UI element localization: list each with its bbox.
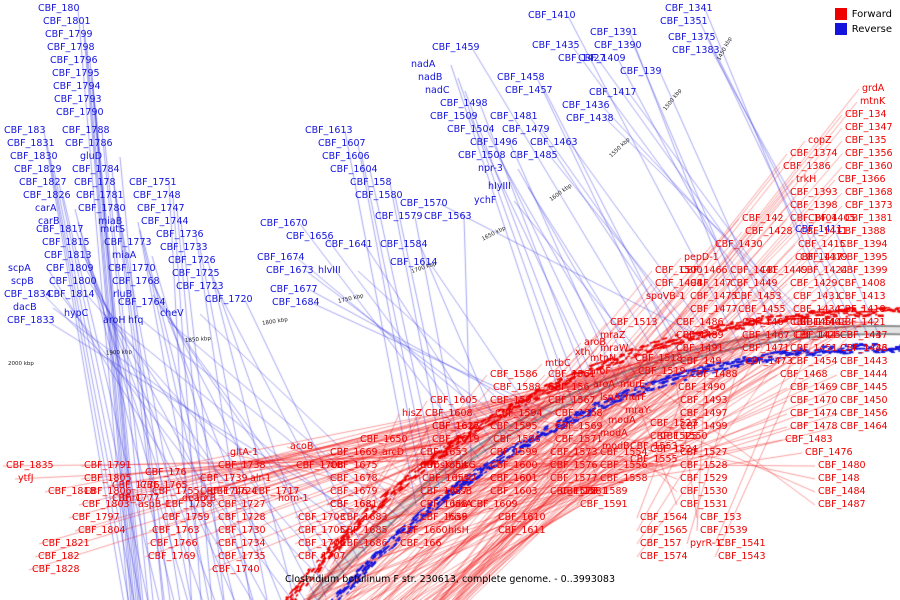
- gene-label-reverse[interactable]: CBF_1607: [318, 139, 366, 149]
- legend-item-reverse: Reverse: [835, 23, 892, 35]
- gene-label-reverse[interactable]: nadB: [418, 73, 442, 83]
- gene-label-forward[interactable]: CBF_134: [845, 110, 887, 120]
- gene-label-forward[interactable]: CBF_1818: [48, 487, 96, 497]
- gene-label-reverse[interactable]: CBF_1788: [62, 126, 110, 136]
- gene-label-reverse[interactable]: CBF_1796: [50, 56, 98, 66]
- gene-label-forward[interactable]: CBF_159: [490, 396, 532, 406]
- gene-label-forward[interactable]: CBF_1373: [845, 201, 893, 211]
- gene-label-forward[interactable]: CBF_1418: [838, 305, 886, 315]
- gene-label-forward[interactable]: CBF_1707: [298, 552, 346, 562]
- gene-label-forward[interactable]: CBF_1803: [82, 500, 130, 510]
- gene-label-reverse[interactable]: CBF_1833: [7, 316, 55, 326]
- gene-label-reverse[interactable]: scpB: [11, 277, 34, 287]
- gene-label-forward[interactable]: CBF_1467: [742, 331, 790, 341]
- gene-label-reverse[interactable]: hfq: [128, 316, 143, 326]
- gene-label-reverse[interactable]: scpA: [8, 264, 31, 274]
- gene-label-forward[interactable]: CBF_1428: [745, 227, 793, 237]
- gene-label-reverse[interactable]: CBF_1736: [156, 230, 204, 240]
- gene-label-reverse[interactable]: CBF_1496: [470, 138, 518, 148]
- gene-label-forward[interactable]: hisH: [448, 526, 469, 536]
- gene-label-reverse[interactable]: CBF_1604: [330, 165, 378, 175]
- gene-label-reverse[interactable]: miaA: [112, 251, 136, 261]
- gene-label-forward[interactable]: pyrR-1: [690, 539, 721, 549]
- gene-label-reverse[interactable]: CBF_1383: [672, 46, 720, 56]
- gene-label-forward[interactable]: CBF_1434: [793, 305, 841, 315]
- gene-label-forward[interactable]: CBF_1405: [808, 214, 856, 224]
- gene-label-forward[interactable]: CBF_147: [690, 279, 732, 289]
- gene-label-reverse[interactable]: CBF_1827: [19, 178, 67, 188]
- gene-label-forward[interactable]: CBF_1470: [790, 396, 838, 406]
- gene-label-forward[interactable]: CBF_1524: [650, 445, 698, 455]
- legend-label-forward: Forward: [852, 9, 892, 20]
- gene-label-forward[interactable]: CBF_1429: [790, 279, 838, 289]
- gene-label-reverse[interactable]: CBF_1438: [566, 114, 614, 124]
- gene-label-forward[interactable]: pepD-1: [684, 253, 719, 263]
- gene-label-forward[interactable]: CBF_1650: [360, 435, 408, 445]
- gene-label-forward[interactable]: CBF_1491: [676, 344, 724, 354]
- gene-label-forward[interactable]: CBF_1360: [845, 162, 893, 172]
- gene-label-forward[interactable]: grdA: [862, 84, 884, 94]
- genome-caption: Clostridium botulinum F str. 230613, com…: [0, 574, 900, 585]
- gene-label-forward[interactable]: CBF_1374: [790, 149, 838, 159]
- gene-label-forward[interactable]: CBF_1453: [734, 292, 782, 302]
- gene-label-forward[interactable]: CBF_1763: [152, 526, 200, 536]
- gene-label-reverse[interactable]: CBF_1798: [47, 43, 95, 53]
- gene-label-forward[interactable]: CBF_1356: [845, 149, 893, 159]
- gene-label-forward[interactable]: CBF_1484: [818, 487, 866, 497]
- gene-label-forward[interactable]: CBF_1550: [660, 432, 708, 442]
- gene-label-forward[interactable]: CBF_1611: [498, 526, 546, 536]
- gene-label-forward[interactable]: CBF_1486: [676, 318, 724, 328]
- gene-label-forward[interactable]: CBF_1675: [330, 461, 378, 471]
- gene-label-forward[interactable]: hisF: [448, 513, 467, 523]
- gene-label-forward[interactable]: CBF_1541: [718, 539, 766, 549]
- gene-label-forward[interactable]: mtbC: [545, 359, 571, 369]
- gene-label-forward[interactable]: CBF_1727: [218, 500, 266, 510]
- gene-label-forward[interactable]: CBF_1411: [800, 227, 848, 237]
- gene-label-reverse[interactable]: CBF_1817: [36, 225, 84, 235]
- gene-label-reverse[interactable]: CBF_1764: [118, 298, 166, 308]
- gene-label-reverse[interactable]: CBF_1748: [133, 191, 181, 201]
- gene-label-reverse[interactable]: gluD: [80, 152, 102, 162]
- gene-label-forward[interactable]: CBF_1415: [798, 240, 846, 250]
- strand-legend: Forward Reverse: [835, 8, 892, 38]
- gene-label-reverse[interactable]: CBF_1773: [104, 238, 152, 248]
- gene-label-reverse[interactable]: CBF_158: [350, 178, 392, 188]
- gene-label-reverse[interactable]: aroH: [103, 316, 125, 326]
- gene-label-forward[interactable]: CBF_1519: [638, 367, 686, 377]
- gene-label-reverse[interactable]: CBF_1684: [272, 298, 320, 308]
- gene-label-forward[interactable]: CBF_1493: [680, 396, 728, 406]
- gene-label-forward[interactable]: CBF_1395: [840, 253, 888, 263]
- gene-label-forward[interactable]: hisB: [452, 487, 472, 497]
- gene-label-forward[interactable]: CBF_1444: [840, 370, 888, 380]
- gene-label-forward[interactable]: CBF_1489: [676, 331, 724, 341]
- gene-label-forward[interactable]: CBF_1393: [790, 188, 838, 198]
- gene-label-forward[interactable]: CBF_1591: [580, 500, 628, 510]
- gene-label-reverse[interactable]: CBF_1458: [497, 73, 545, 83]
- gene-label-forward[interactable]: CBF_166: [400, 539, 442, 549]
- gene-label-forward[interactable]: CBF_1703: [298, 513, 346, 523]
- gene-label-reverse[interactable]: CBF_1563: [424, 212, 472, 222]
- gene-label-reverse[interactable]: CBF_1579: [375, 212, 423, 222]
- gene-label-reverse[interactable]: CBF_1809: [46, 264, 94, 274]
- gene-label-reverse[interactable]: CBF_1673: [266, 266, 314, 276]
- gene-label-reverse[interactable]: CBF_1747: [137, 204, 185, 214]
- legend-label-reverse: Reverse: [852, 24, 892, 35]
- gene-label-forward[interactable]: CBF_1678: [330, 474, 378, 484]
- gene-label-forward[interactable]: CBF_1483: [785, 435, 833, 445]
- gene-label-forward[interactable]: CBF_1683: [340, 513, 388, 523]
- gene-label-forward[interactable]: CBF_160: [490, 474, 532, 484]
- gene-label-reverse[interactable]: ychF: [474, 196, 496, 206]
- gene-label-reverse[interactable]: CBF_1436: [562, 101, 610, 111]
- gene-label-forward[interactable]: CBF_1518: [635, 354, 683, 364]
- gene-label-forward[interactable]: lspA: [600, 393, 620, 403]
- gene-label-reverse[interactable]: nadC: [425, 86, 450, 96]
- gene-label-forward[interactable]: modA: [600, 429, 628, 439]
- genome-map-viewer: CBF_180CBF_1801CBF_1799CBF_1798CBF_1796C…: [0, 0, 900, 600]
- gene-label-forward[interactable]: CBF_1430: [715, 240, 763, 250]
- gene-label-reverse[interactable]: CBF_139: [620, 67, 662, 77]
- gene-label-forward[interactable]: CBF_1456: [840, 409, 888, 419]
- gene-label-forward[interactable]: CBF_145: [790, 318, 832, 328]
- gene-label-reverse[interactable]: CBF_1733: [160, 243, 208, 253]
- gene-label-reverse[interactable]: cheV: [160, 309, 184, 319]
- gene-label-forward[interactable]: CBF_1531: [680, 500, 728, 510]
- gene-label-forward[interactable]: CBF_1568: [555, 409, 603, 419]
- gene-label-reverse[interactable]: CBF_1768: [112, 277, 160, 287]
- gene-label-reverse[interactable]: dacB: [13, 303, 37, 313]
- gene-label-forward[interactable]: CBF_1475: [690, 292, 738, 302]
- gene-label-reverse[interactable]: CBF_1793: [54, 95, 102, 105]
- gene-label-forward[interactable]: CBF_1431: [793, 292, 841, 302]
- gene-label-reverse[interactable]: hIyIII: [488, 182, 511, 192]
- gene-label-forward[interactable]: copZ: [808, 136, 832, 146]
- gene-label-reverse[interactable]: CBF_1790: [56, 108, 104, 118]
- gene-label-reverse[interactable]: CBF_1485: [510, 151, 558, 161]
- gene-label-reverse[interactable]: CBF_1784: [72, 165, 120, 175]
- gene-label-forward[interactable]: CBF_1571: [555, 435, 603, 445]
- gene-label-reverse[interactable]: CBF_1674: [257, 253, 305, 263]
- gene-label-reverse[interactable]: CBF_1720: [205, 295, 253, 305]
- gene-label-forward[interactable]: hisD: [455, 474, 476, 484]
- gene-label-forward[interactable]: xth: [575, 348, 590, 358]
- gene-label-reverse[interactable]: CBF_1435: [532, 41, 580, 51]
- gene-label-forward[interactable]: CBF_1528: [680, 461, 728, 471]
- gene-label-forward[interactable]: CBF_1835: [6, 461, 54, 471]
- gene-label-reverse[interactable]: hypC: [64, 309, 88, 319]
- gene-label-reverse[interactable]: CBF_1479: [502, 125, 550, 135]
- gene-label-forward[interactable]: CBF_1739: [200, 474, 248, 484]
- gene-label-reverse[interactable]: CBF_183: [4, 126, 46, 136]
- gene-label-forward[interactable]: CBF_146: [742, 318, 784, 328]
- gene-label-reverse[interactable]: CBF_1508: [458, 151, 506, 161]
- gene-label-forward[interactable]: trkH: [796, 175, 816, 185]
- gene-label-forward[interactable]: CBF_1595: [490, 422, 538, 432]
- gene-label-forward[interactable]: CBF_1738: [218, 461, 266, 471]
- gene-label-forward[interactable]: CBF_1468: [780, 370, 828, 380]
- gene-label-reverse[interactable]: CBF_1580: [355, 191, 403, 201]
- gene-label-forward[interactable]: CBF_1724: [210, 487, 258, 497]
- gene-label-forward[interactable]: CBF_1476: [805, 448, 853, 458]
- gene-label-reverse[interactable]: CBF_1509: [430, 112, 478, 122]
- gene-label-reverse[interactable]: CBF_1481: [490, 112, 538, 122]
- gene-label-forward[interactable]: CBF_1758: [165, 500, 213, 510]
- gene-label-forward[interactable]: CBF_1686: [340, 539, 388, 549]
- gene-label-reverse[interactable]: CBF_1351: [660, 17, 708, 27]
- gene-label-reverse[interactable]: CBF_1606: [322, 152, 370, 162]
- gene-label-forward[interactable]: mtnN: [590, 354, 616, 364]
- gene-label-forward[interactable]: CBF_1558: [600, 474, 648, 484]
- gene-label-forward[interactable]: CBF_1451: [790, 344, 838, 354]
- gene-label-reverse[interactable]: CBF_1498: [440, 99, 488, 109]
- gene-label-forward[interactable]: CBF_1464: [840, 422, 888, 432]
- gene-label-forward[interactable]: CBF_1734: [218, 539, 266, 549]
- gene-label-forward[interactable]: CBF_1599: [490, 448, 538, 458]
- gene-label-reverse[interactable]: CBF_1801: [43, 17, 91, 27]
- gene-label-reverse[interactable]: CBF_1794: [53, 82, 101, 92]
- gene-label-forward[interactable]: aroA: [593, 380, 615, 390]
- gene-label-forward[interactable]: CBF_1469: [790, 383, 838, 393]
- gene-label-forward[interactable]: CBF_1653: [420, 448, 468, 458]
- gene-label-reverse[interactable]: CBF_1641: [325, 240, 373, 250]
- gene-label-forward[interactable]: CBF_1594: [495, 409, 543, 419]
- gene-label-forward[interactable]: CBF_1565: [640, 526, 688, 536]
- gene-label-forward[interactable]: CBF_1450: [840, 396, 888, 406]
- gene-label-reverse[interactable]: CBF_1459: [432, 43, 480, 53]
- gene-label-reverse[interactable]: CBF_1781: [76, 191, 124, 201]
- gene-label-reverse[interactable]: CBF_1391: [590, 28, 638, 38]
- gene-label-forward[interactable]: murE: [620, 380, 645, 390]
- gene-label-reverse[interactable]: CBF_1831: [7, 139, 55, 149]
- gene-label-forward[interactable]: alr-1: [250, 474, 271, 484]
- gene-label-forward[interactable]: CBF_1480: [818, 461, 866, 471]
- gene-label-forward[interactable]: CBF_1477: [690, 305, 738, 315]
- gene-label-forward[interactable]: CBF_1679: [330, 487, 378, 497]
- gene-label-forward[interactable]: CBF_1625: [432, 422, 480, 432]
- gene-label-reverse[interactable]: CBF_1834: [4, 290, 52, 300]
- gene-label-forward[interactable]: CBF_1730: [218, 526, 266, 536]
- gene-label-forward[interactable]: CBF_1596: [493, 435, 541, 445]
- gene-label-reverse[interactable]: CBF_1613: [305, 126, 353, 136]
- gene-label-forward[interactable]: CBF_1769: [148, 552, 196, 562]
- gene-label-reverse[interactable]: CBF_1375: [668, 33, 716, 43]
- gene-label-forward[interactable]: CBF_1735: [218, 552, 266, 562]
- gene-label-reverse[interactable]: nadA: [411, 60, 435, 70]
- gene-label-forward[interactable]: CBF_1408: [838, 279, 886, 289]
- gene-label-forward[interactable]: CBF_1399: [840, 266, 888, 276]
- gene-label-forward[interactable]: CBF_1766: [150, 539, 198, 549]
- gene-label-reverse[interactable]: CBF_1670: [260, 219, 308, 229]
- gene-label-reverse[interactable]: carA: [35, 204, 56, 214]
- gene-label-reverse[interactable]: CBF_1780: [78, 204, 126, 214]
- legend-item-forward: Forward: [835, 8, 892, 20]
- gene-label-forward[interactable]: arcD: [382, 448, 404, 458]
- gene-label-forward[interactable]: CBF_1619: [432, 435, 480, 445]
- gene-label-reverse[interactable]: CBF_1463: [530, 138, 578, 148]
- gene-label-reverse[interactable]: CBF_1427: [558, 54, 606, 64]
- gene-label-reverse[interactable]: CBF_1786: [65, 139, 113, 149]
- gene-label-reverse[interactable]: CBF_1830: [10, 152, 58, 162]
- gene-label-forward[interactable]: mtnK: [860, 97, 885, 107]
- gene-label-forward[interactable]: murF: [622, 393, 647, 403]
- gene-label-reverse[interactable]: CBF_1814: [47, 290, 95, 300]
- gene-label-forward[interactable]: CBF_1578: [550, 487, 598, 497]
- gene-label-forward[interactable]: CBF_1608: [425, 409, 473, 419]
- gene-label-forward[interactable]: CBF_1539: [700, 526, 748, 536]
- gene-label-forward[interactable]: CBF_1454: [790, 357, 838, 367]
- gene-label-forward[interactable]: CBF_135: [845, 136, 887, 146]
- gene-label-forward[interactable]: CBF_1586: [490, 370, 538, 380]
- gene-label-reverse[interactable]: CBF_1410: [528, 11, 576, 21]
- gene-label-forward[interactable]: CBF_1791: [84, 461, 132, 471]
- gene-label-forward[interactable]: acoB: [290, 442, 313, 452]
- gene-label-forward[interactable]: CBF_1488: [690, 370, 738, 380]
- gene-label-forward[interactable]: CBF_1347: [845, 123, 893, 133]
- gene-label-forward[interactable]: CBF_1478: [790, 422, 838, 432]
- gene-label-reverse[interactable]: CBF_1799: [45, 30, 93, 40]
- gene-label-forward[interactable]: CBF_1413: [838, 292, 886, 302]
- gene-label-reverse[interactable]: CBF_1795: [52, 69, 100, 79]
- gene-label-forward[interactable]: CBF_1398: [790, 201, 838, 211]
- gene-label-forward[interactable]: CBF_1449: [730, 279, 778, 289]
- reverse-color-swatch: [835, 23, 847, 35]
- gene-label-reverse[interactable]: CBF_1584: [380, 240, 428, 250]
- gene-label-forward[interactable]: CBF_1574: [640, 552, 688, 562]
- forward-color-swatch: [835, 8, 847, 20]
- gene-label-forward[interactable]: CBF_1728: [218, 513, 266, 523]
- gene-label-reverse[interactable]: CBF_1723: [176, 282, 224, 292]
- gene-label-reverse[interactable]: CBF_1826: [23, 191, 71, 201]
- gene-label-forward[interactable]: CBF_1705: [298, 526, 346, 536]
- gene-label-reverse[interactable]: CBF_178: [74, 178, 116, 188]
- gene-label-forward[interactable]: CBF_1654: [420, 461, 468, 471]
- gene-label-reverse[interactable]: CBF_1770: [108, 264, 156, 274]
- gene-label-reverse[interactable]: CBF_1504: [447, 125, 495, 135]
- gene-label-forward[interactable]: CBF_149: [680, 357, 722, 367]
- gene-label-reverse[interactable]: CBF_1800: [49, 277, 97, 287]
- gene-label-reverse[interactable]: CBF_1457: [505, 86, 553, 96]
- gene-label-forward[interactable]: CBF_1605: [430, 396, 478, 406]
- gene-label-forward[interactable]: CBF_1577: [550, 474, 598, 484]
- gene-label-forward[interactable]: CBF_157: [640, 539, 682, 549]
- gene-label-forward[interactable]: CBF_1610: [498, 513, 546, 523]
- gene-label-forward[interactable]: CBF_176: [145, 468, 187, 478]
- gene-label-forward[interactable]: CBF_1466: [680, 266, 728, 276]
- gene-label-forward[interactable]: CBF_1556: [600, 461, 648, 471]
- gene-label-forward[interactable]: CBF_1603: [490, 487, 538, 497]
- ruler-tick-label: 2000 kbp: [8, 361, 34, 367]
- gene-label-forward[interactable]: CBF_1797: [72, 513, 120, 523]
- gene-label-forward[interactable]: CBF_1706: [298, 539, 346, 549]
- gene-label-reverse[interactable]: CBF_1417: [589, 88, 637, 98]
- gene-label-forward[interactable]: CBF_1446: [840, 344, 888, 354]
- gene-label-forward[interactable]: hom-1: [278, 494, 309, 504]
- gene-label-reverse[interactable]: CBF_1815: [42, 238, 90, 248]
- gene-label-reverse[interactable]: CBF_1725: [172, 269, 220, 279]
- gene-label-forward[interactable]: CBF_1394: [840, 240, 888, 250]
- gene-label-reverse[interactable]: CBF_1390: [594, 41, 642, 51]
- gene-label-forward[interactable]: CBF_1600: [490, 461, 538, 471]
- gene-label-reverse[interactable]: CBF_1744: [141, 217, 189, 227]
- gene-label-reverse[interactable]: mutS: [100, 225, 125, 235]
- gene-label-reverse[interactable]: hlvIII: [318, 266, 341, 276]
- gene-label-forward[interactable]: CBF_1471: [742, 344, 790, 354]
- gene-label-forward[interactable]: gltA-1: [230, 448, 258, 458]
- gene-label-forward[interactable]: CBF_1386: [783, 162, 831, 172]
- gene-label-forward[interactable]: CBF_1473: [745, 357, 793, 367]
- gene-label-forward[interactable]: CBF_1455: [738, 305, 786, 315]
- gene-label-forward[interactable]: CBF_1569: [555, 422, 603, 432]
- gene-label-forward[interactable]: CBF_1530: [680, 487, 728, 497]
- gene-label-forward[interactable]: CBF_182: [38, 552, 80, 562]
- gene-label-forward[interactable]: CBF_1474: [790, 409, 838, 419]
- gene-label-forward[interactable]: CBF_142: [742, 214, 784, 224]
- gene-label-forward[interactable]: CBF_1669: [330, 448, 378, 458]
- gene-label-forward[interactable]: hisZ: [402, 409, 422, 419]
- gene-label-reverse[interactable]: CBF_1341: [665, 4, 713, 14]
- gene-label-forward[interactable]: CBF_1368: [845, 188, 893, 198]
- gene-label-forward[interactable]: CBF_1529: [680, 474, 728, 484]
- gene-label-forward[interactable]: CBF_153: [700, 513, 742, 523]
- gene-label-forward[interactable]: ytfJ: [18, 474, 34, 484]
- gene-label-forward[interactable]: CBF_1685: [340, 526, 388, 536]
- gene-label-forward[interactable]: CBF_156: [548, 383, 590, 393]
- gene-label-forward[interactable]: CBF_1567: [548, 396, 596, 406]
- gene-label-reverse[interactable]: CBF_1570: [400, 199, 448, 209]
- gene-label-forward[interactable]: CBF_1443: [840, 357, 888, 367]
- gene-label-forward[interactable]: CBF_1445: [840, 383, 888, 393]
- gene-label-forward[interactable]: spoVB-1: [646, 292, 685, 302]
- gene-label-forward[interactable]: CBF_1564: [640, 513, 688, 523]
- gene-label-forward[interactable]: CBF_1561: [548, 370, 596, 380]
- gene-label-reverse[interactable]: npr-3: [478, 164, 503, 174]
- gene-label-forward[interactable]: CBF_1821: [42, 539, 90, 549]
- gene-label-forward[interactable]: CBF_1490: [678, 383, 726, 393]
- gene-label-forward[interactable]: CBF_1543: [718, 552, 766, 562]
- gene-label-forward[interactable]: CBF_1804: [78, 526, 126, 536]
- gene-label-forward[interactable]: CBF_1588: [493, 383, 541, 393]
- gene-label-forward[interactable]: CBF_1576: [550, 461, 598, 471]
- gene-label-forward[interactable]: CBF_1573: [550, 448, 598, 458]
- gene-label-forward[interactable]: CBF_1449: [760, 266, 808, 276]
- gene-label-reverse[interactable]: CBF_1751: [129, 178, 177, 188]
- gene-label-reverse[interactable]: CBF_180: [38, 4, 80, 14]
- gene-label-forward[interactable]: CBF_1660: [400, 526, 448, 536]
- gene-label-forward[interactable]: CBF_148: [818, 474, 860, 484]
- gene-label-forward[interactable]: CBF_1513: [610, 318, 658, 328]
- gene-label-forward[interactable]: CBF_168: [330, 500, 372, 510]
- gene-label-forward[interactable]: modA: [608, 416, 636, 426]
- gene-label-reverse[interactable]: CBF_1829: [14, 165, 62, 175]
- gene-label-forward[interactable]: CBF_1366: [838, 175, 886, 185]
- gene-label-forward[interactable]: CBF_1487: [818, 500, 866, 510]
- gene-label-forward[interactable]: CBF_1425: [793, 331, 841, 341]
- gene-label-forward[interactable]: CBF_1609: [470, 500, 518, 510]
- gene-label-reverse[interactable]: CBF_1677: [270, 285, 318, 295]
- gene-label-forward[interactable]: CBF_1447: [840, 331, 888, 341]
- gene-label-reverse[interactable]: CBF_1813: [44, 251, 92, 261]
- gene-label-reverse[interactable]: CBF_1726: [168, 256, 216, 266]
- gene-label-forward[interactable]: CBF_1759: [162, 513, 210, 523]
